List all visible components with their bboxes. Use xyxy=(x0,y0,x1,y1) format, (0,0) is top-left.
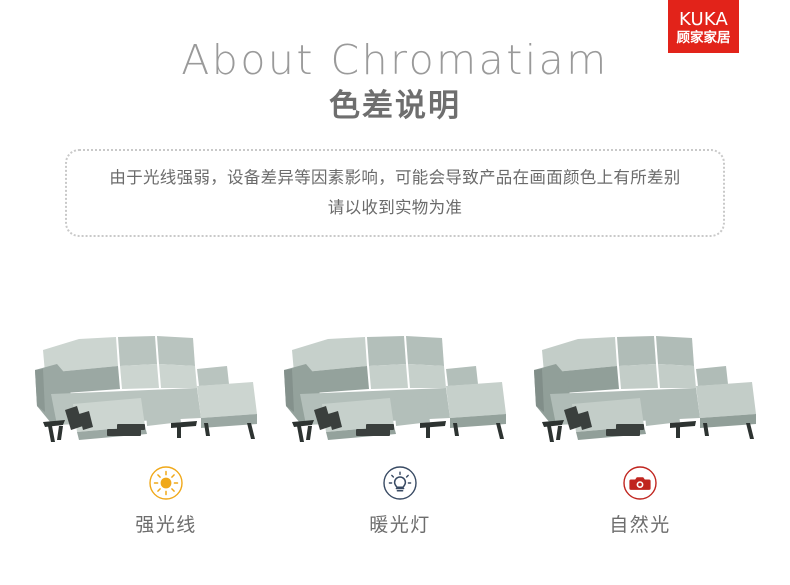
sofa-illustration xyxy=(520,326,770,446)
lightbulb-icon xyxy=(383,466,417,500)
page-heading: About Chromatiam 色差说明 xyxy=(0,36,790,126)
sample-label-strong-light: 强光线 xyxy=(135,514,197,538)
sofa-illustration xyxy=(21,326,271,446)
camera-icon xyxy=(623,466,657,500)
sofa-illustration xyxy=(270,326,520,446)
sample-warm-lamp: 暖光灯 xyxy=(275,466,525,538)
disclaimer-line-2: 请以收到实物为准 xyxy=(328,193,462,223)
sofa-image-strong-light xyxy=(21,326,271,446)
disclaimer-box: 由于光线强弱，设备差异等因素影响，可能会导致产品在画面颜色上有所差别 请以收到实… xyxy=(65,149,725,237)
brand-logo-latin: KUKA xyxy=(679,10,728,29)
sofa-image-natural-light xyxy=(520,326,770,446)
sample-strong-light: 强光线 xyxy=(41,466,291,538)
caption-row: 强光线 暖光灯 自然光 xyxy=(0,466,790,556)
sofa-sample-row xyxy=(0,326,790,446)
sun-icon xyxy=(149,466,183,500)
sample-label-warm-lamp: 暖光灯 xyxy=(369,514,431,538)
page-title-english: About Chromatiam xyxy=(0,36,790,84)
sofa-image-warm-lamp xyxy=(270,326,520,446)
disclaimer-line-1: 由于光线强弱，设备差异等因素影响，可能会导致产品在画面颜色上有所差别 xyxy=(109,163,680,193)
sample-natural-light: 自然光 xyxy=(515,466,765,538)
sample-label-natural-light: 自然光 xyxy=(609,514,671,538)
page-title-chinese: 色差说明 xyxy=(0,86,790,126)
